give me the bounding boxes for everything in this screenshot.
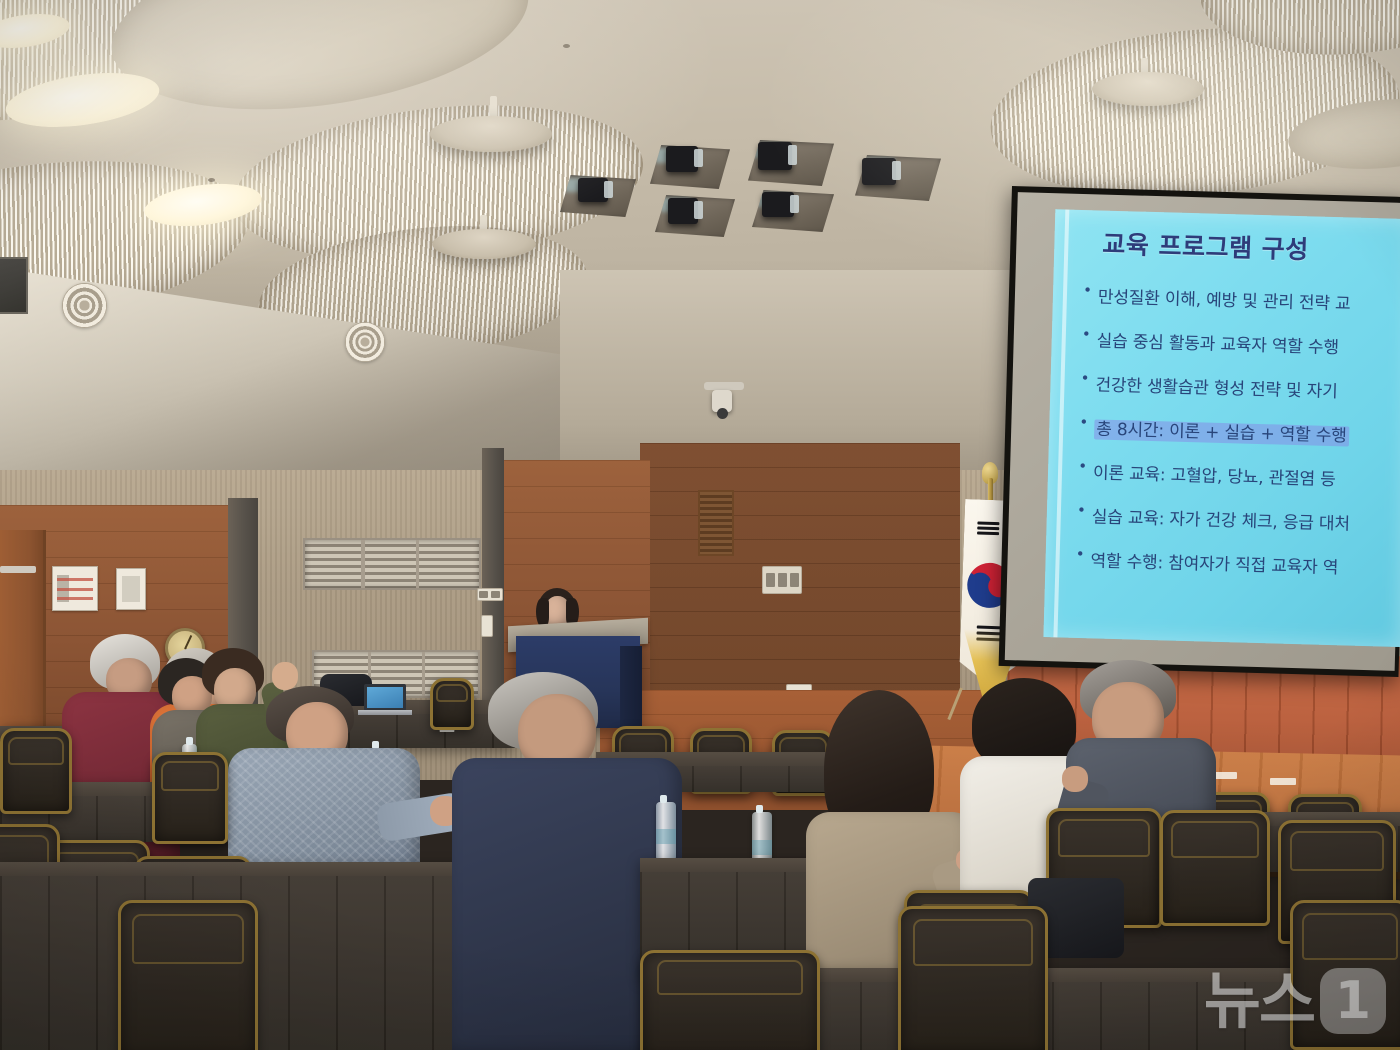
air-diffuser-2 [345, 322, 385, 362]
slide-bullet-6: 실습 교육: 자가 건강 체크, 응급 대처 [1075, 502, 1400, 536]
front-left-table-drape [0, 876, 520, 1050]
switch-2[interactable] [491, 591, 499, 597]
door-push-bar[interactable] [0, 566, 36, 573]
outlet-slot-1[interactable] [766, 573, 775, 588]
notice-line-3 [57, 597, 92, 600]
front-left-table [0, 862, 520, 1050]
camera-lens [717, 408, 728, 419]
slide-title: 교육 프로그램 구성 [1102, 225, 1309, 267]
attendee-graysuit-hand [1062, 766, 1088, 792]
slide-bullet-3: 건강한 생활습관 형성 전략 및 자기 [1078, 370, 1400, 404]
smoke-detector-2 [563, 44, 570, 48]
exit-door[interactable] [0, 530, 46, 730]
security-camera [700, 382, 744, 428]
trigram-geon [977, 521, 999, 536]
water-bottle-center-1 [656, 802, 676, 860]
slide-bullet-2: 실습 중심 활동과 교육자 역할 수행 [1079, 326, 1400, 360]
projection-screen: 교육 프로그램 구성 만성질환 이해, 예방 및 관리 전략 교 실습 중심 활… [999, 186, 1400, 677]
light-switch-panel[interactable] [477, 588, 503, 601]
wall-notice-2 [116, 568, 146, 610]
conference-hall-photo: 교육 프로그램 구성 만성질환 이해, 예방 및 관리 전략 교 실습 중심 활… [0, 0, 1400, 1050]
thermostat-panel[interactable] [481, 615, 493, 637]
smoke-detector-1 [208, 178, 215, 182]
slide-bullet-7: 역할 수행: 참여자가 직접 교육자 역 [1073, 546, 1400, 580]
wall-column-stage [482, 448, 504, 710]
decorative-wall-vent [698, 490, 734, 556]
outlet-slot-2[interactable] [778, 573, 787, 588]
camera-arm [704, 382, 744, 390]
front-left-chair[interactable] [118, 900, 258, 1050]
right-front-chair-3[interactable] [1290, 900, 1400, 1050]
slide-bullet-list: 만성질환 이해, 예방 및 관리 전략 교 실습 중심 활동과 교육자 역할 수… [1073, 282, 1400, 599]
wall-notice-1 [52, 566, 98, 611]
notice-line-2 [57, 588, 92, 591]
air-diffuser-1 [62, 283, 107, 328]
right-front-chair-2[interactable] [898, 906, 1048, 1050]
right-front-chair-1[interactable] [640, 950, 820, 1050]
grille-divider-1 [361, 540, 364, 588]
wall-speaker [0, 257, 28, 314]
attendee-gray-plaid-suit [228, 686, 458, 886]
right-chair-3[interactable] [1160, 810, 1270, 926]
notice-figure-2 [122, 576, 140, 602]
wall-outlet-panel-right[interactable] [762, 566, 802, 594]
slide-surface: 교육 프로그램 구성 만성질환 이해, 예방 및 관리 전략 교 실습 중심 활… [1043, 209, 1400, 647]
left-chair-5[interactable] [0, 728, 72, 814]
switch-1[interactable] [479, 591, 487, 597]
grille-divider-2 [416, 540, 419, 588]
slide-bullet-1: 만성질환 이해, 예방 및 관리 전략 교 [1081, 282, 1400, 316]
left-chair-4[interactable] [152, 752, 228, 844]
slide-bullet-5: 이론 교육: 고혈압, 당뇨, 관절염 등 [1076, 458, 1400, 492]
hvac-grille-upper [303, 538, 481, 590]
paper-on-stage-2 [1270, 778, 1296, 785]
slide-bullet-4: 총 8시간: 이론 + 실습 + 역할 수행 [1077, 414, 1400, 448]
notice-line-1 [57, 578, 92, 581]
outlet-slot-3[interactable] [790, 573, 798, 588]
